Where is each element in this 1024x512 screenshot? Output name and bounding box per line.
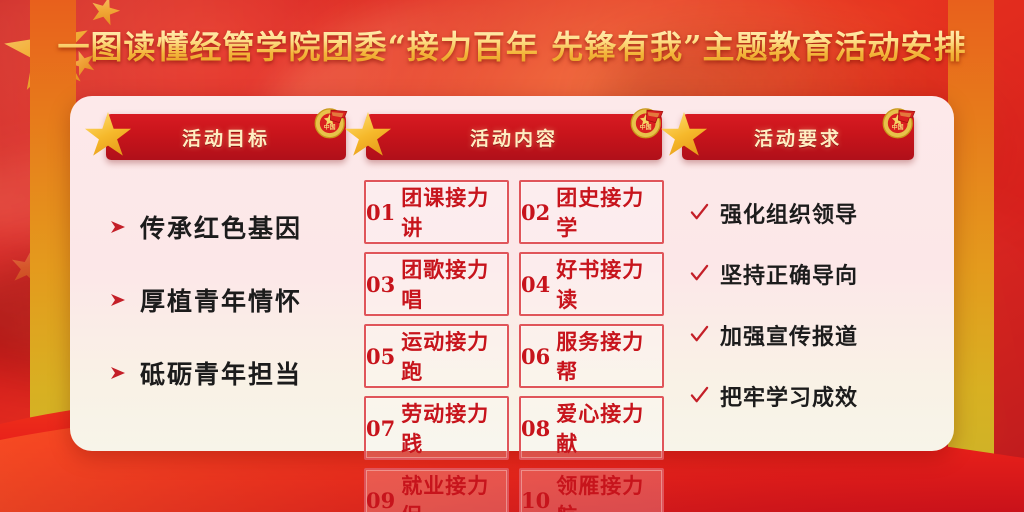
- requirement-text: 加强宣传报道: [720, 319, 858, 351]
- requirement-text: 强化组织领导: [720, 197, 858, 229]
- activity-item: 07 劳动接力践: [364, 396, 509, 460]
- goal-text: 厚植青年情怀: [140, 282, 302, 318]
- requirements-list: 强化组织领导 坚持正确导向 加强宣传报道: [682, 176, 932, 436]
- activity-number: 03: [366, 272, 395, 297]
- activity-number: 09: [366, 488, 395, 512]
- activity-number: 07: [366, 416, 395, 441]
- activity-item: 08 爱心接力献: [519, 396, 664, 460]
- list-item: 传承红色基因: [96, 209, 346, 245]
- content-card: 活动目标 中国 活动内容 中国: [70, 96, 954, 451]
- activity-item: 03 团歌接力唱: [364, 252, 509, 316]
- list-item: 坚持正确导向: [682, 258, 932, 290]
- poster-title-area: 一图读懂经管学院团委“接力百年 先锋有我”主题教育活动安排: [0, 22, 1024, 68]
- activity-title: 团歌接力唱: [401, 254, 507, 314]
- activity-title: 团课接力讲: [401, 182, 507, 242]
- activity-title: 领雁接力航: [556, 470, 662, 512]
- activity-title: 就业接力促: [401, 470, 507, 512]
- section-banner-requirements-label: 活动要求: [754, 124, 842, 151]
- cyl-emblem-icon: 中国: [310, 101, 352, 143]
- activity-item: 09 就业接力促: [364, 468, 509, 512]
- goals-list: 传承红色基因 厚植青年情怀 砥砺青年担当: [96, 176, 346, 436]
- check-mark-icon: [690, 386, 709, 405]
- poster-canvas: 一图读懂经管学院团委“接力百年 先锋有我”主题教育活动安排 活动目标 中国 活: [0, 0, 1024, 512]
- requirement-text: 把牢学习成效: [720, 380, 858, 412]
- goal-text: 传承红色基因: [140, 209, 302, 245]
- activity-item: 05 运动接力跑: [364, 324, 509, 388]
- activity-title: 好书接力读: [556, 254, 662, 314]
- list-item: 把牢学习成效: [682, 380, 932, 412]
- arrow-bullet-icon: [108, 363, 128, 383]
- section-banner-contents: 活动内容 中国: [366, 114, 662, 160]
- activity-title: 团史接力学: [556, 182, 662, 242]
- activity-title: 运动接力跑: [401, 326, 507, 386]
- list-item: 砥砺青年担当: [96, 355, 346, 391]
- section-banner-contents-label: 活动内容: [470, 124, 558, 151]
- requirement-text: 坚持正确导向: [720, 258, 858, 290]
- activity-item: 04 好书接力读: [519, 252, 664, 316]
- arrow-bullet-icon: [108, 217, 128, 237]
- section-banner-requirements: 活动要求 中国: [682, 114, 914, 160]
- arrow-bullet-icon: [108, 290, 128, 310]
- cyl-emblem-icon: 中国: [878, 101, 920, 143]
- activity-item: 10 领雁接力航: [519, 468, 664, 512]
- goal-text: 砥砺青年担当: [140, 355, 302, 391]
- list-item: 加强宣传报道: [682, 319, 932, 351]
- activity-number: 08: [521, 416, 550, 441]
- activity-number: 10: [521, 488, 550, 512]
- activity-number: 04: [521, 272, 550, 297]
- activity-item-grid: 01 团课接力讲 02 团史接力学 03 团歌接力唱 04 好书接力读 05: [364, 176, 664, 436]
- cyl-emblem-icon: 中国: [626, 101, 668, 143]
- section-banner-row: 活动目标 中国 活动内容 中国: [70, 114, 954, 164]
- activity-title: 爱心接力献: [556, 398, 662, 458]
- activity-number: 06: [521, 344, 550, 369]
- check-mark-icon: [690, 325, 709, 344]
- poster-title: 一图读懂经管学院团委“接力百年 先锋有我”主题教育活动安排: [58, 22, 967, 68]
- activity-title: 劳动接力践: [401, 398, 507, 458]
- activity-item: 01 团课接力讲: [364, 180, 509, 244]
- check-mark-icon: [690, 264, 709, 283]
- activity-title: 服务接力帮: [556, 326, 662, 386]
- column-goals: 传承红色基因 厚植青年情怀 砥砺青年担当: [96, 176, 346, 436]
- column-contents: 01 团课接力讲 02 团史接力学 03 团歌接力唱 04 好书接力读 05: [364, 176, 664, 436]
- list-item: 强化组织领导: [682, 197, 932, 229]
- activity-number: 02: [521, 200, 550, 225]
- list-item: 厚植青年情怀: [96, 282, 346, 318]
- gold-star-icon: [84, 112, 132, 160]
- section-banner-goals-label: 活动目标: [182, 124, 270, 151]
- activity-number: 05: [366, 344, 395, 369]
- section-banner-goals: 活动目标 中国: [106, 114, 346, 160]
- activity-item: 06 服务接力帮: [519, 324, 664, 388]
- activity-item: 02 团史接力学: [519, 180, 664, 244]
- activity-number: 01: [366, 200, 395, 225]
- check-mark-icon: [690, 203, 709, 222]
- column-requirements: 强化组织领导 坚持正确导向 加强宣传报道: [682, 176, 932, 436]
